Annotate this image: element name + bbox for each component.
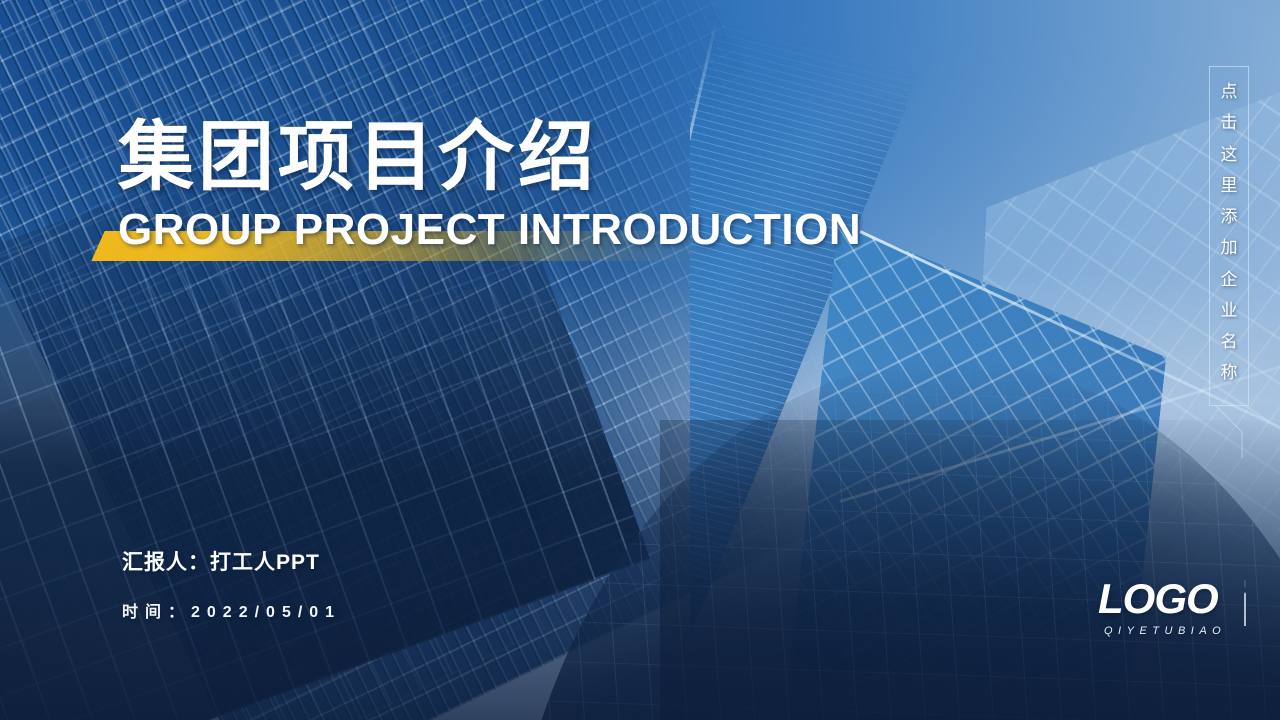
logo-divider-rule [1244, 580, 1246, 626]
company-name-char: 业 [1211, 295, 1247, 326]
company-name-char: 点 [1211, 76, 1247, 107]
presentation-slide: 集团项目介绍 GROUP PROJECT INTRODUCTION 汇报人：打工… [0, 0, 1280, 720]
title-block: 集团项目介绍 GROUP PROJECT INTRODUCTION [118, 118, 818, 261]
company-name-char: 这 [1211, 139, 1247, 170]
company-name-char: 企 [1211, 264, 1247, 295]
logo-tagline: QIYETUBIAO [1104, 625, 1248, 637]
company-name-char: 称 [1211, 357, 1247, 388]
subtitle-row: GROUP PROJECT INTRODUCTION [118, 205, 818, 261]
logo-wordmark: LOGO [1098, 578, 1248, 620]
company-name-char: 名 [1211, 326, 1247, 357]
company-name-char: 添 [1211, 201, 1247, 232]
company-name-char: 里 [1211, 170, 1247, 201]
company-name-placeholder[interactable]: 点击这里添加企业名称 [1211, 76, 1247, 389]
presenter-label: 汇报人：打工人PPT [122, 546, 320, 576]
date-label: 时间：2022/05/01 [122, 598, 341, 622]
page-subtitle: GROUP PROJECT INTRODUCTION [118, 205, 861, 255]
company-box-tail-line [1216, 406, 1268, 458]
company-name-char: 击 [1211, 107, 1247, 138]
page-title: 集团项目介绍 [118, 118, 818, 199]
logo[interactable]: LOGO QIYETUBIAO [1098, 578, 1248, 636]
company-name-char: 加 [1211, 232, 1247, 263]
